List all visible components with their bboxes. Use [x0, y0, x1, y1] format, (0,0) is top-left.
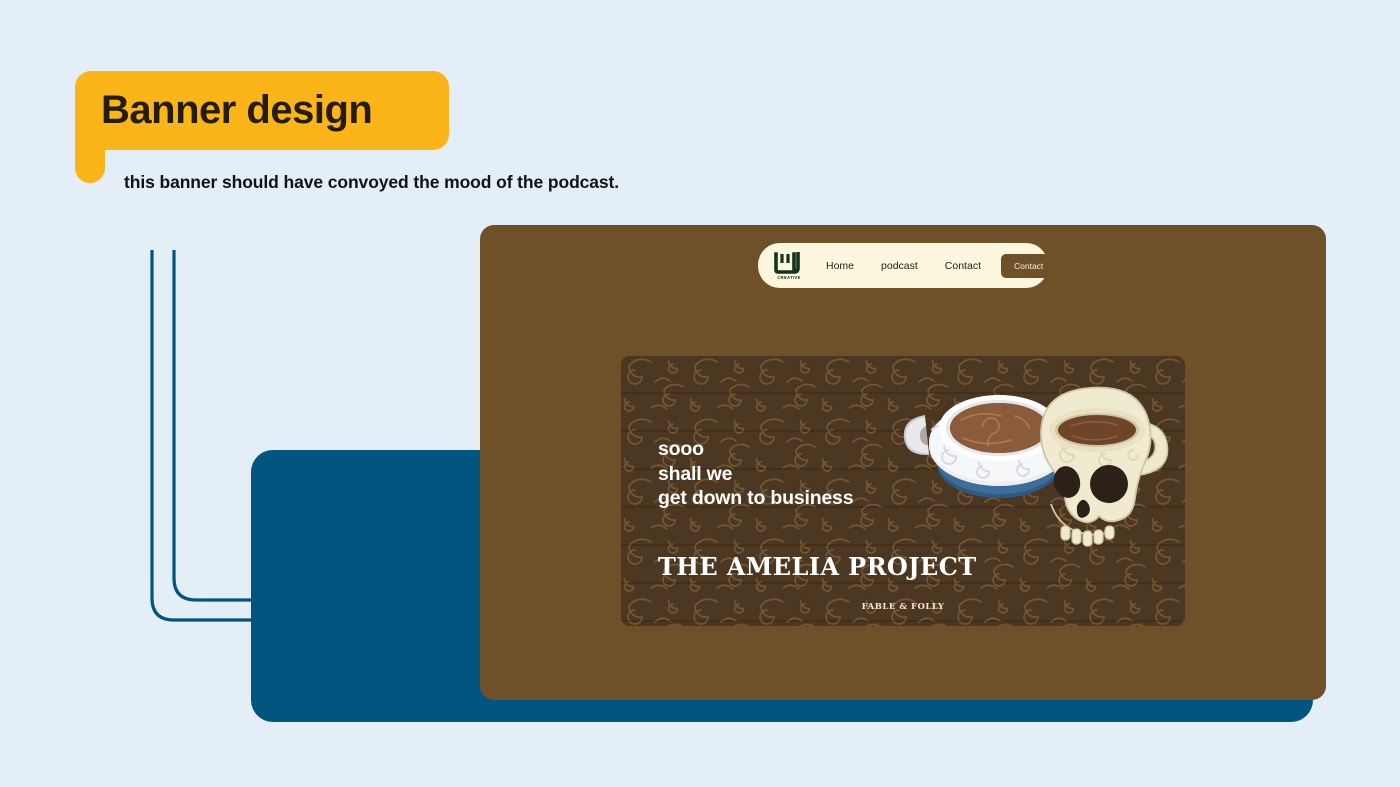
headline-line-2: shall we: [658, 462, 853, 487]
title-speech-bubble: Banner design: [75, 71, 449, 150]
banner-headline: sooo shall we get down to business: [658, 437, 853, 511]
network-credit: FABLE & FOLLY: [621, 602, 1185, 612]
podcast-title: THE AMELIA PROJECT: [658, 552, 976, 581]
nav-link-home[interactable]: Home: [826, 260, 854, 272]
page-subtitle: this banner should have convoyed the moo…: [124, 172, 619, 193]
coffee-artwork: [891, 356, 1185, 584]
nav-link-contact[interactable]: Contact: [945, 260, 981, 272]
nav-link-group: Home podcast Contact: [826, 260, 981, 272]
podcast-banner: sooo shall we get down to business THE A…: [621, 356, 1185, 626]
mockup-navbar: CREATIVE Home podcast Contact Contact: [758, 243, 1048, 288]
wj-monogram-logo[interactable]: CREATIVE: [772, 250, 806, 282]
page-title: Banner design: [101, 88, 372, 133]
headline-line-1: sooo: [658, 437, 853, 462]
website-mockup-card: CREATIVE Home podcast Contact Contact: [480, 225, 1326, 700]
skull-shaped-mug-with-coffee: [1041, 388, 1168, 546]
logo-subtext: CREATIVE: [777, 275, 800, 280]
headline-line-3: get down to business: [658, 486, 853, 511]
bubble-tail: [75, 133, 105, 183]
contact-cta-button[interactable]: Contact: [1001, 254, 1056, 278]
nav-link-podcast[interactable]: podcast: [881, 260, 918, 272]
